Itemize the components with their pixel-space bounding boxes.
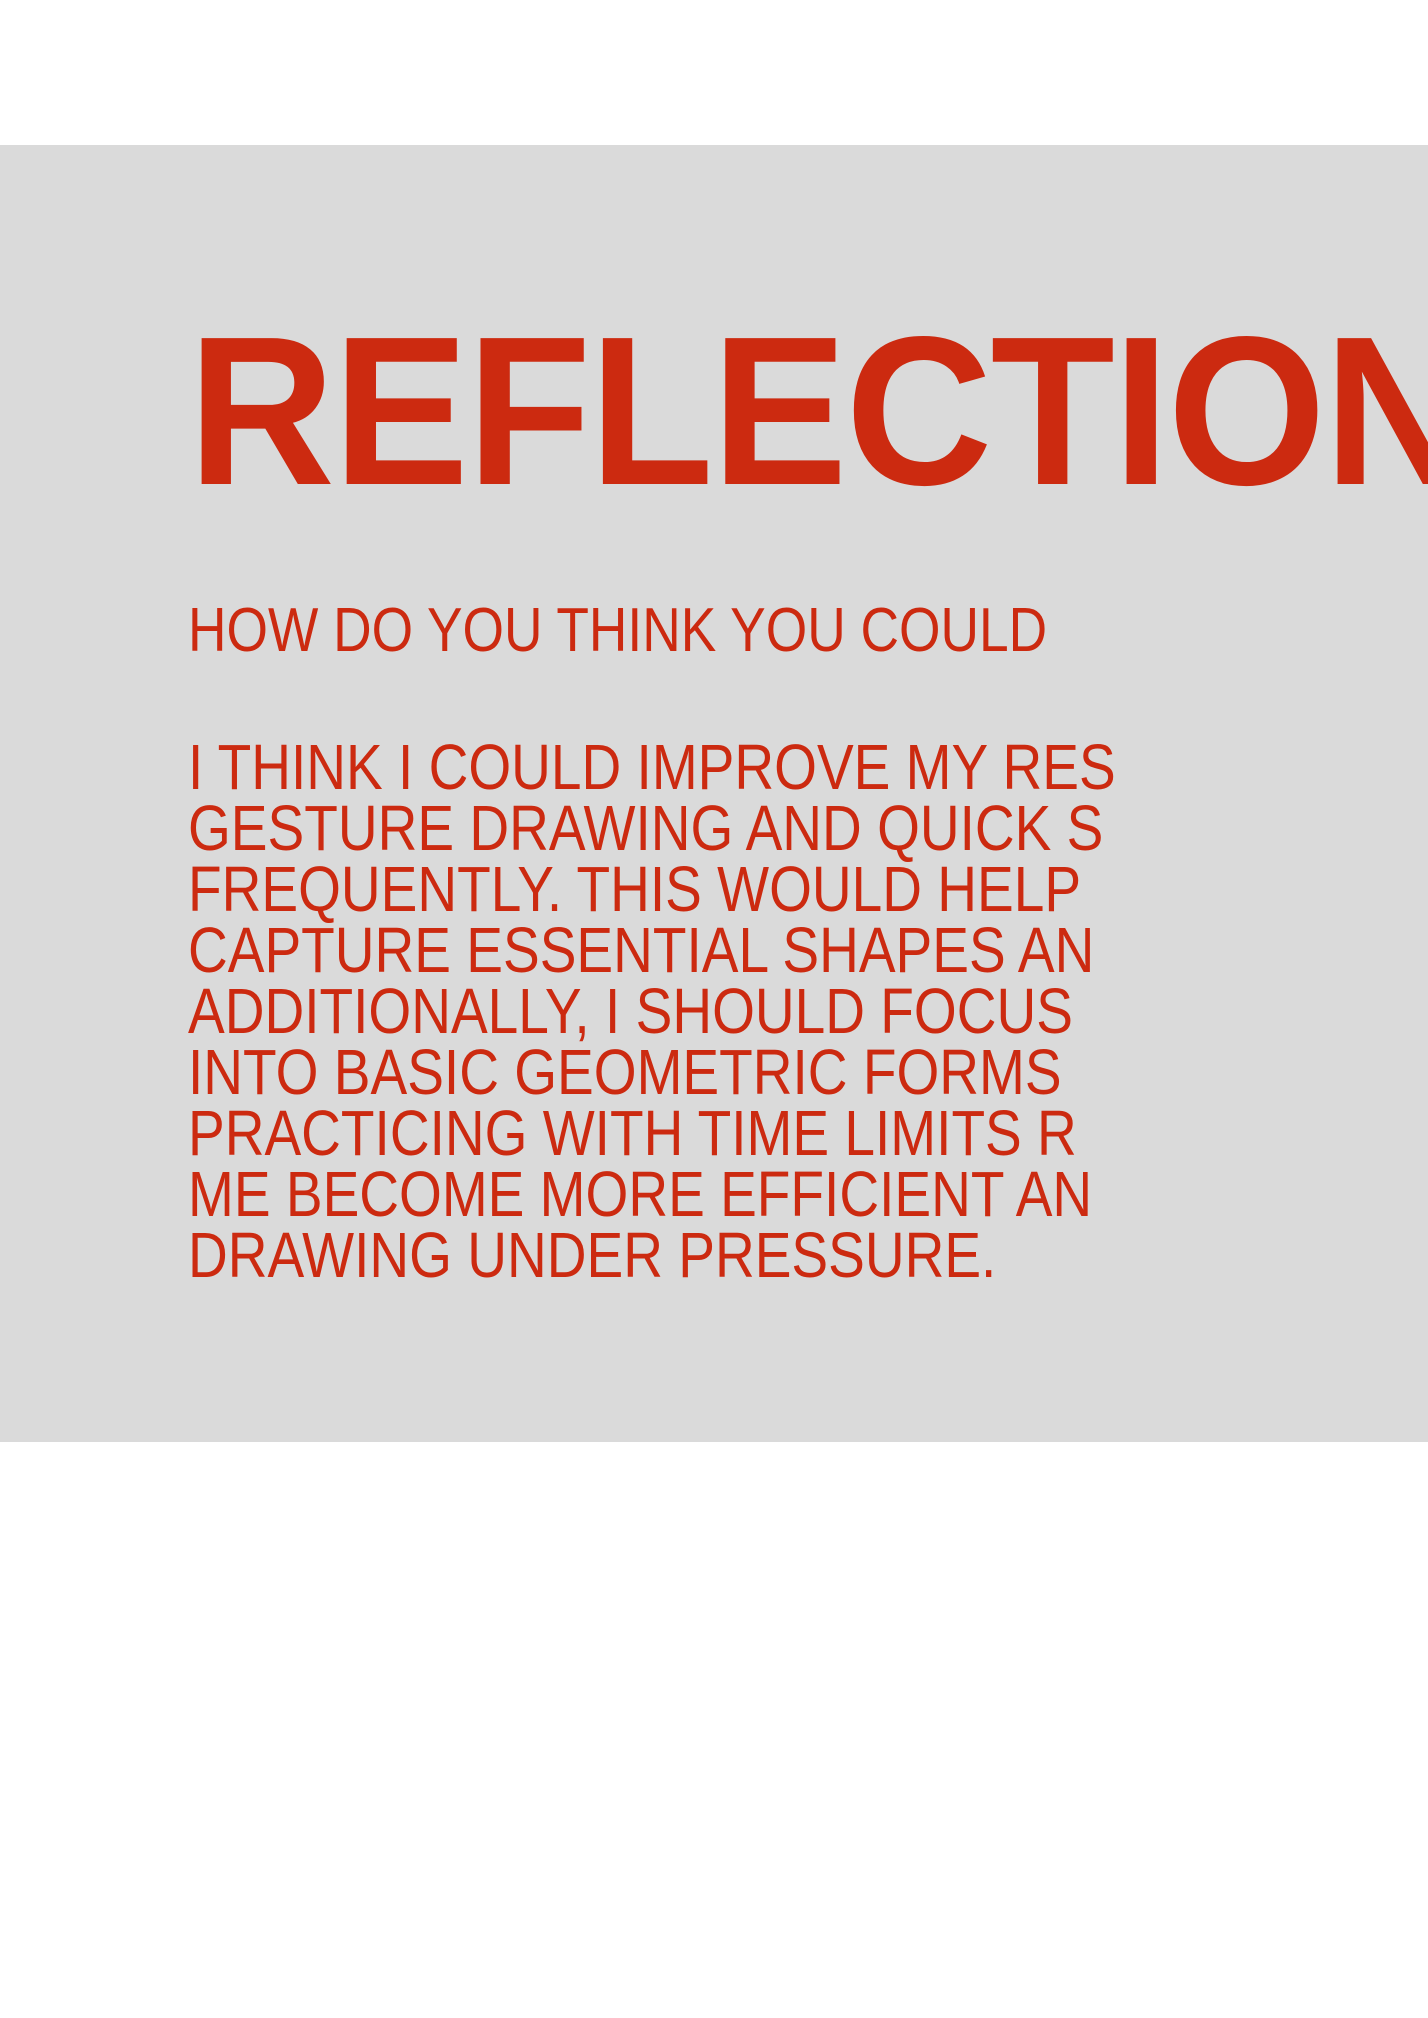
body-line: PRACTICING WITH TIME LIMITS R [188,1103,1116,1164]
body-line: CAPTURE ESSENTIAL SHAPES AN [188,920,1116,981]
body-line: ADDITIONALLY, I SHOULD FOCUS [188,981,1116,1042]
body-line: DRAWING UNDER PRESSURE. [188,1225,1116,1286]
body-line: FREQUENTLY. THIS WOULD HELP [188,859,1116,920]
body-line: ME BECOME MORE EFFICIENT AN [188,1164,1116,1225]
page-title: REFLECTION [188,328,1428,493]
reflection-question: HOW DO YOU THINK YOU COULD [188,600,1047,662]
body-line: I THINK I COULD IMPROVE MY RES [188,737,1116,798]
slide-panel: REFLECTION HOW DO YOU THINK YOU COULD I … [0,145,1428,1442]
body-line: INTO BASIC GEOMETRIC FORMS [188,1042,1116,1103]
body-line: GESTURE DRAWING AND QUICK S [188,798,1116,859]
reflection-answer-body: I THINK I COULD IMPROVE MY RES GESTURE D… [188,737,1116,1286]
